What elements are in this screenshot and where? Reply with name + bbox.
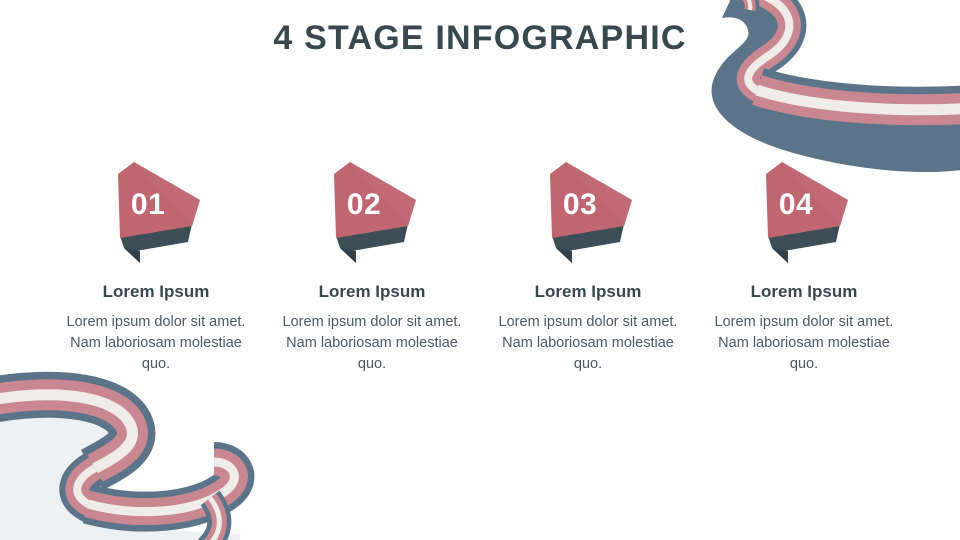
stage-number-02: 02 <box>312 188 416 222</box>
stage-body-02: Lorem ipsum dolor sit amet. Nam laborios… <box>272 312 472 375</box>
stage-heading-02: Lorem Ipsum <box>319 281 426 303</box>
stage-marker-01[interactable]: 01 <box>96 158 216 263</box>
stage-number-03: 03 <box>528 188 632 222</box>
stage-item-04[interactable]: 04 Lorem Ipsum Lorem ipsum dolor sit ame… <box>696 158 912 375</box>
stage-item-01[interactable]: 01 Lorem Ipsum Lorem ipsum dolor sit ame… <box>48 158 264 375</box>
stage-list: 01 Lorem Ipsum Lorem ipsum dolor sit ame… <box>48 158 912 375</box>
stage-body-03: Lorem ipsum dolor sit amet. Nam laborios… <box>488 312 688 375</box>
stage-body-04: Lorem ipsum dolor sit amet. Nam laborios… <box>704 312 904 375</box>
page-title: 4 STAGE INFOGRAPHIC <box>0 16 960 60</box>
stage-heading-03: Lorem Ipsum <box>535 281 642 303</box>
slide-canvas: 4 STAGE INFOGRAPHIC 01 Lorem Ipsum Lorem… <box>0 0 960 540</box>
ribbon-bottom-left-shadow <box>0 391 240 540</box>
stage-heading-04: Lorem Ipsum <box>751 281 858 303</box>
stage-marker-03[interactable]: 03 <box>528 158 648 263</box>
stage-number-01: 01 <box>96 188 200 222</box>
stage-item-02[interactable]: 02 Lorem Ipsum Lorem ipsum dolor sit ame… <box>264 158 480 375</box>
stage-heading-01: Lorem Ipsum <box>103 281 210 303</box>
stage-marker-02[interactable]: 02 <box>312 158 432 263</box>
stage-marker-04[interactable]: 04 <box>744 158 864 263</box>
ribbon-bottom-left-stripes <box>0 395 234 540</box>
stage-body-01: Lorem ipsum dolor sit amet. Nam laborios… <box>56 312 256 375</box>
stage-number-04: 04 <box>744 188 848 222</box>
stage-item-03[interactable]: 03 Lorem Ipsum Lorem ipsum dolor sit ame… <box>480 158 696 375</box>
